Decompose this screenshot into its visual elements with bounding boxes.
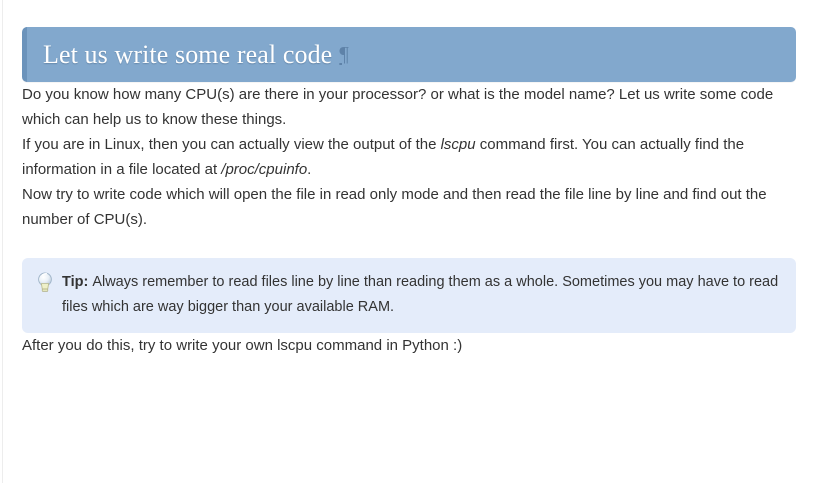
inline-path-proc-cpuinfo: /proc/cpuinfo bbox=[221, 161, 307, 178]
paragraph-lscpu-text-before: If you are in Linux, then you can actual… bbox=[22, 136, 441, 153]
tip-message: Always remember to read files line by li… bbox=[62, 274, 778, 315]
paragraph-lscpu: If you are in Linux, then you can actual… bbox=[22, 132, 796, 182]
tip-label: Tip: bbox=[62, 274, 88, 290]
lightbulb-icon bbox=[36, 271, 54, 293]
paragraph-closing: After you do this, try to write your own… bbox=[22, 333, 796, 358]
paragraph-lscpu-text-after: . bbox=[307, 161, 311, 178]
paragraph-intro: Do you know how many CPU(s) are there in… bbox=[22, 82, 796, 132]
tip-callout: Tip:Always remember to read files line b… bbox=[22, 258, 796, 333]
article-content: Let us write some real code ¶ Do you kno… bbox=[22, 0, 796, 358]
page-gutter-line bbox=[2, 0, 3, 483]
page-title: Let us write some real code bbox=[43, 40, 332, 70]
paragraph-task: Now try to write code which will open th… bbox=[22, 182, 796, 232]
anchor-link-icon[interactable]: ¶ bbox=[339, 42, 349, 67]
tip-text-body: Tip:Always remember to read files line b… bbox=[62, 270, 780, 320]
section-header-banner: Let us write some real code ¶ bbox=[22, 27, 796, 82]
inline-command-lscpu: lscpu bbox=[441, 136, 476, 153]
